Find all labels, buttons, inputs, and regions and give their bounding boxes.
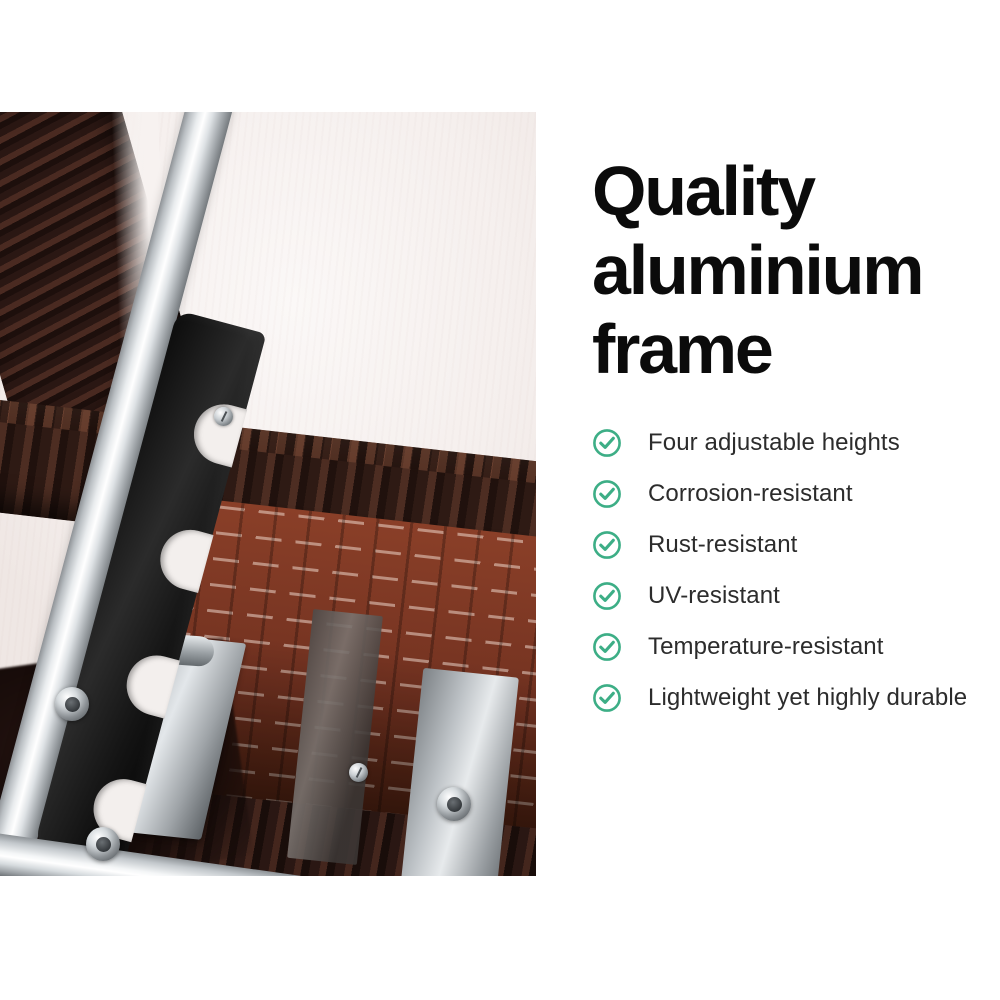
headline-line-2: aluminium [592,231,992,310]
product-feature-banner: Quality aluminium frame Four adjustable … [0,0,1000,1000]
page-title: Quality aluminium frame [592,152,992,389]
bolt-upper-left [55,687,89,721]
bolt-lower-left [86,827,120,861]
bracket-screw-top [214,407,233,426]
product-photo [0,112,536,876]
list-item: Lightweight yet highly durable [592,672,1000,723]
bolt-upper-right [437,787,471,821]
feature-label: UV-resistant [648,582,780,610]
list-item: Corrosion-resistant [592,468,1000,519]
list-item: Temperature-resistant [592,621,1000,672]
feature-label: Corrosion-resistant [648,480,853,508]
check-circle-icon [592,581,622,611]
headline-line-1: Quality [592,152,992,231]
content-column: Quality aluminium frame Four adjustable … [592,0,1000,1000]
feature-label: Rust-resistant [648,531,797,559]
list-item: Rust-resistant [592,519,1000,570]
check-circle-icon [592,428,622,458]
bracket-screw-bottom [349,763,368,782]
feature-label: Temperature-resistant [648,633,884,661]
check-circle-icon [592,632,622,662]
check-circle-icon [592,683,622,713]
check-circle-icon [592,479,622,509]
check-circle-icon [592,530,622,560]
feature-label: Four adjustable heights [648,429,900,457]
feature-label: Lightweight yet highly durable [648,684,967,712]
list-item: UV-resistant [592,570,1000,621]
list-item: Four adjustable heights [592,417,1000,468]
headline-line-3: frame [592,310,992,389]
feature-list: Four adjustable heights Corrosion-resist… [592,417,1000,723]
